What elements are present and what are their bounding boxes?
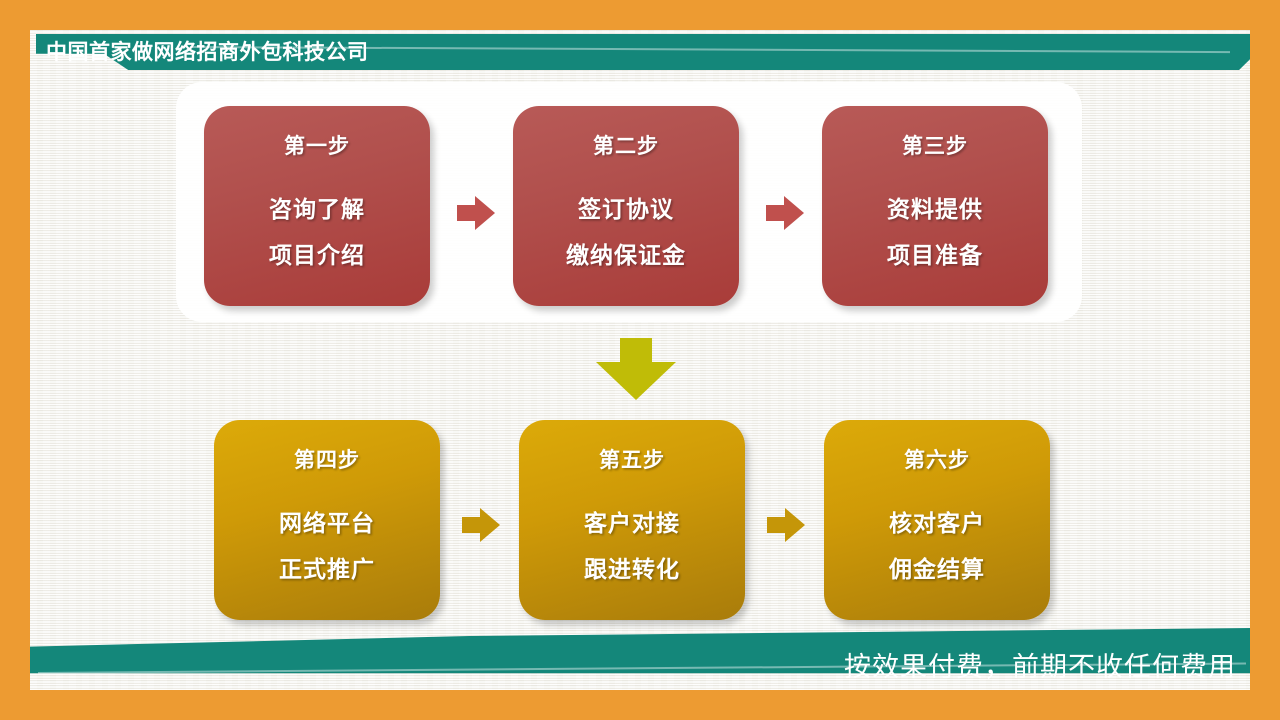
step-body: 核对客户 佣金结算 (889, 504, 985, 584)
step-body: 资料提供 项目准备 (887, 190, 983, 270)
step-line: 咨询了解 (269, 190, 365, 224)
step-title: 第四步 (294, 444, 360, 474)
step-box-2[interactable]: 第二步 签订协议 缴纳保证金 (513, 106, 739, 306)
arrow-down-icon (596, 338, 676, 400)
step-line: 项目准备 (887, 236, 983, 270)
step-box-5[interactable]: 第五步 客户对接 跟进转化 (519, 420, 745, 620)
header-title: 中国首家做网络招商外包科技公司 (46, 36, 369, 68)
arrow-shaft (766, 205, 786, 221)
arrow-head (475, 196, 495, 230)
step-line: 项目介绍 (269, 236, 365, 270)
arrow-right-icon (767, 508, 805, 542)
step-title: 第二步 (593, 130, 659, 160)
arrow-shaft (767, 517, 787, 533)
step-box-1[interactable]: 第一步 咨询了解 项目介绍 (204, 106, 430, 306)
arrow-head (784, 196, 804, 230)
step-body: 咨询了解 项目介绍 (269, 190, 365, 270)
step-title: 第六步 (904, 444, 970, 474)
step-body: 签订协议 缴纳保证金 (566, 190, 686, 270)
step-line: 客户对接 (584, 504, 680, 538)
arrow-shaft (462, 517, 482, 533)
arrow-head (785, 508, 805, 542)
step-line: 网络平台 (279, 504, 375, 538)
step-line: 资料提供 (887, 190, 983, 224)
step-box-4[interactable]: 第四步 网络平台 正式推广 (214, 420, 440, 620)
arrow-head (596, 362, 676, 400)
step-body: 客户对接 跟进转化 (584, 504, 680, 584)
step-title: 第三步 (902, 130, 968, 160)
arrow-right-icon (462, 508, 500, 542)
step-line: 正式推广 (279, 550, 375, 584)
slide: 中国首家做网络招商外包科技公司 第一步 咨询了解 项目介绍 第二步 签订协议 缴… (0, 0, 1280, 720)
step-title: 第五步 (599, 444, 665, 474)
arrow-head (480, 508, 500, 542)
arrow-right-icon (457, 196, 495, 230)
step-line: 核对客户 (889, 504, 985, 538)
step-line: 缴纳保证金 (566, 236, 686, 270)
step-box-3[interactable]: 第三步 资料提供 项目准备 (822, 106, 1048, 306)
arrow-right-icon (766, 196, 804, 230)
arrow-shaft (620, 338, 652, 364)
footer-tagline: 按效果付费，前期不收任何费用 (844, 645, 1236, 684)
step-line: 佣金结算 (889, 550, 985, 584)
step-body: 网络平台 正式推广 (279, 504, 375, 584)
step-line: 跟进转化 (584, 550, 680, 584)
arrow-shaft (457, 205, 477, 221)
step-box-6[interactable]: 第六步 核对客户 佣金结算 (824, 420, 1050, 620)
step-line: 签订协议 (578, 190, 674, 224)
step-title: 第一步 (284, 130, 350, 160)
